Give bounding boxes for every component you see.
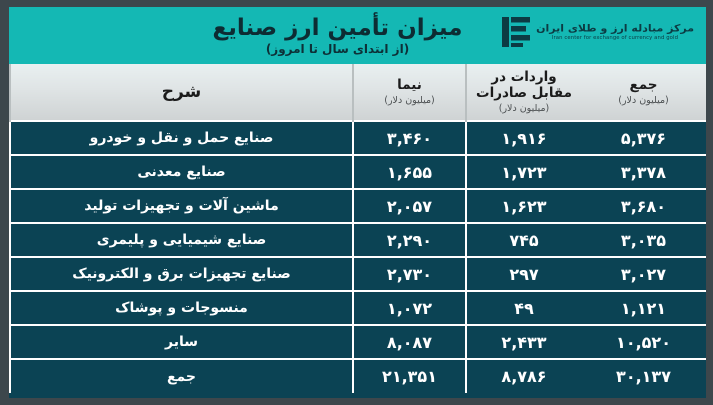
- column-header-nima-unit: (میلیون دلار): [358, 95, 461, 106]
- cell-nima: ۲,۷۳۰: [353, 257, 466, 291]
- cell-description: منسوجات و پوشاک: [10, 291, 353, 325]
- table-row: ۱,۱۲۱۴۹۱,۰۷۲منسوجات و پوشاک: [10, 291, 706, 325]
- cell-nima: ۲,۲۹۰: [353, 223, 466, 257]
- table-row: ۳,۶۸۰۱,۶۲۳۲,۰۵۷ماشین آلات و تجهیزات تولی…: [10, 189, 706, 223]
- cell-imports: ۷۴۵: [466, 223, 581, 257]
- header-title-group: میزان تأمین ارز صنایع (از ابتدای سال تا …: [212, 16, 502, 56]
- column-header-description: شرح: [10, 64, 353, 121]
- cell-sum: ۳,۰۳۵: [581, 223, 706, 257]
- cell-nima: ۳,۴۶۰: [353, 121, 466, 155]
- page-subtitle: (از ابتدای سال تا امروز): [212, 43, 462, 56]
- cell-imports: ۴۹: [466, 291, 581, 325]
- column-header-description-title: شرح: [15, 82, 348, 102]
- table-total-row: ۳۰,۱۳۷۸,۷۸۶۲۱,۳۵۱جمع: [10, 359, 706, 393]
- cell-description: جمع: [10, 359, 353, 393]
- cell-nima: ۱,۶۵۵: [353, 155, 466, 189]
- cell-sum: ۳,۰۲۷: [581, 257, 706, 291]
- table-body: ۵,۳۷۶۱,۹۱۶۳,۴۶۰صنایع حمل و نقل و خودرو۳,…: [10, 121, 706, 393]
- table-row: ۳,۳۷۸۱,۷۲۳۱,۶۵۵صنایع معدنی: [10, 155, 706, 189]
- cell-description: ماشین آلات و تجهیزات تولید: [10, 189, 353, 223]
- table-row: ۱۰,۵۲۰۲,۴۳۳۸,۰۸۷سایر: [10, 325, 706, 359]
- cell-description: صنایع حمل و نقل و خودرو: [10, 121, 353, 155]
- table-header-row: جمع (میلیون دلار) واردات در مقابل صادرات…: [10, 64, 706, 121]
- column-header-imports: واردات در مقابل صادرات (میلیون دلار): [466, 64, 581, 121]
- cell-nima: ۱,۰۷۲: [353, 291, 466, 325]
- column-header-sum-title: جمع: [585, 78, 702, 94]
- table-row: ۳,۰۳۵۷۴۵۲,۲۹۰صنایع شیمیایی و پلیمری: [10, 223, 706, 257]
- header-banner: میزان تأمین ارز صنایع (از ابتدای سال تا …: [9, 7, 706, 64]
- logo-name-fa: مرکز مبادله ارز و طلای ایران: [536, 23, 694, 33]
- cell-description: صنایع شیمیایی و پلیمری: [10, 223, 353, 257]
- cell-imports: ۸,۷۸۶: [466, 359, 581, 393]
- column-header-imports-unit: (میلیون دلار): [471, 103, 577, 114]
- cell-imports: ۲۹۷: [466, 257, 581, 291]
- cell-sum: ۱۰,۵۲۰: [581, 325, 706, 359]
- cell-sum: ۱,۱۲۱: [581, 291, 706, 325]
- cell-nima: ۲۱,۳۵۱: [353, 359, 466, 393]
- cell-nima: ۸,۰۸۷: [353, 325, 466, 359]
- logo-name-en: Iran center for exchange of currency and…: [535, 36, 696, 41]
- table-head: جمع (میلیون دلار) واردات در مقابل صادرات…: [10, 64, 706, 121]
- column-header-nima-title: نیما: [358, 78, 461, 94]
- cell-sum: ۵,۳۷۶: [581, 121, 706, 155]
- page-title: میزان تأمین ارز صنایع: [212, 16, 462, 40]
- logo-text-group: مرکز مبادله ارز و طلای ایران Iran center…: [536, 23, 694, 41]
- infographic-page: میزان تأمین ارز صنایع (از ابتدای سال تا …: [0, 0, 713, 405]
- cell-description: سایر: [10, 325, 353, 359]
- cell-imports: ۱,۷۲۳: [466, 155, 581, 189]
- column-header-nima: نیما (میلیون دلار): [353, 64, 466, 121]
- currency-supply-table: جمع (میلیون دلار) واردات در مقابل صادرات…: [9, 64, 706, 393]
- cell-sum: ۳۰,۱۳۷: [581, 359, 706, 393]
- exchange-logo-icon: [502, 17, 530, 47]
- cell-description: صنایع تجهیزات برق و الکترونیک: [10, 257, 353, 291]
- column-header-sum: جمع (میلیون دلار): [581, 64, 706, 121]
- column-header-sum-unit: (میلیون دلار): [585, 95, 702, 106]
- cell-description: صنایع معدنی: [10, 155, 353, 189]
- cell-imports: ۱,۹۱۶: [466, 121, 581, 155]
- organization-logo: مرکز مبادله ارز و طلای ایران Iran center…: [502, 17, 694, 47]
- table-row: ۳,۰۲۷۲۹۷۲,۷۳۰صنایع تجهیزات برق و الکترون…: [10, 257, 706, 291]
- table-row: ۵,۳۷۶۱,۹۱۶۳,۴۶۰صنایع حمل و نقل و خودرو: [10, 121, 706, 155]
- cell-sum: ۳,۶۸۰: [581, 189, 706, 223]
- cell-sum: ۳,۳۷۸: [581, 155, 706, 189]
- cell-nima: ۲,۰۵۷: [353, 189, 466, 223]
- cell-imports: ۱,۶۲۳: [466, 189, 581, 223]
- infographic-frame: میزان تأمین ارز صنایع (از ابتدای سال تا …: [9, 7, 706, 398]
- column-header-imports-title: واردات در مقابل صادرات: [471, 70, 577, 101]
- cell-imports: ۲,۴۳۳: [466, 325, 581, 359]
